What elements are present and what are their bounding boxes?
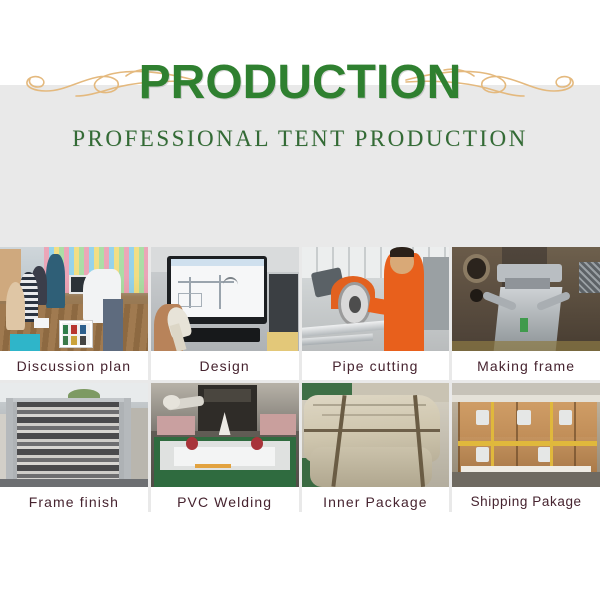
step-caption: Discussion plan bbox=[0, 351, 148, 380]
step-card-making-frame[interactable]: Making frame bbox=[452, 247, 600, 380]
production-steps-row: Discussion plan Design bbox=[0, 247, 600, 380]
step-caption: Frame finish bbox=[0, 487, 148, 516]
pvc-welding-machine-photo bbox=[151, 383, 299, 487]
step-card-inner-package[interactable]: Inner Package bbox=[302, 383, 450, 516]
step-caption: Inner Package bbox=[302, 487, 450, 516]
packed-bale-photo bbox=[302, 383, 450, 487]
page-header: PRODUCTION PROFESSIONAL TENT PRODUCTION bbox=[0, 0, 600, 160]
page-subtitle: PROFESSIONAL TENT PRODUCTION bbox=[72, 126, 528, 152]
step-card-shipping-package[interactable]: Shipping Pakage bbox=[452, 383, 600, 516]
step-caption: PVC Welding bbox=[151, 487, 299, 516]
frame-bending-machine-photo bbox=[452, 247, 600, 351]
production-steps-row: Frame finish PVC Welding bbox=[0, 383, 600, 516]
step-card-pvc-welding[interactable]: PVC Welding bbox=[151, 383, 299, 516]
production-steps-grid: Discussion plan Design bbox=[0, 247, 600, 516]
step-caption: Pipe cutting bbox=[302, 351, 450, 380]
page-title: PRODUCTION bbox=[139, 59, 462, 107]
title-row: PRODUCTION bbox=[0, 52, 600, 114]
step-card-discussion-plan[interactable]: Discussion plan bbox=[0, 247, 148, 380]
step-caption: Making frame bbox=[452, 351, 600, 380]
step-card-design[interactable]: Design bbox=[151, 247, 299, 380]
office-meeting-photo bbox=[0, 247, 148, 351]
step-caption: Shipping Pakage bbox=[452, 487, 600, 516]
step-card-frame-finish[interactable]: Frame finish bbox=[0, 383, 148, 516]
wooden-crates-photo bbox=[452, 383, 600, 487]
cad-monitor-photo bbox=[151, 247, 299, 351]
frame-rack-photo bbox=[0, 383, 148, 487]
production-page: PRODUCTION PROFESSIONAL TENT PRODUCTION bbox=[0, 0, 600, 600]
step-card-pipe-cutting[interactable]: Pipe cutting bbox=[302, 247, 450, 380]
step-caption: Design bbox=[151, 351, 299, 380]
pipe-cutting-machine-photo bbox=[302, 247, 450, 351]
